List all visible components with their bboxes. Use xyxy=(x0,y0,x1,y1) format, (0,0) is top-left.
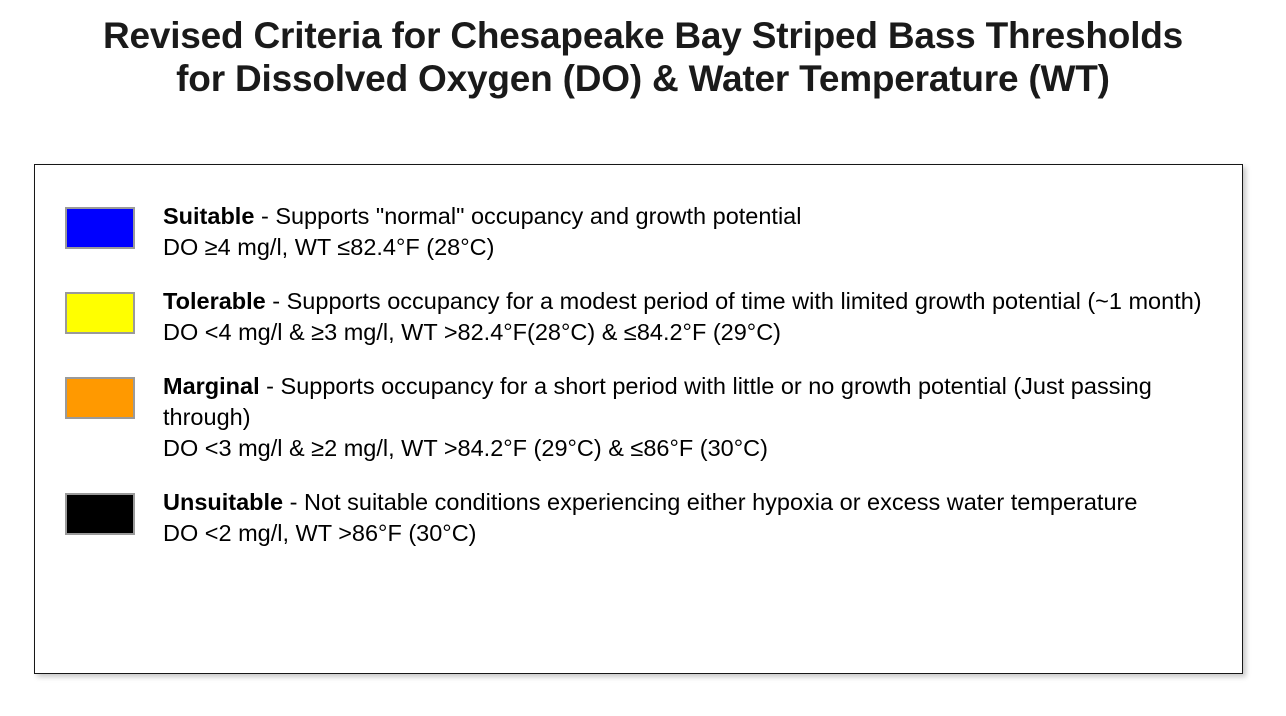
color-swatch-yellow xyxy=(65,292,135,334)
legend-criteria: DO <2 mg/l, WT >86°F (30°C) xyxy=(163,518,1223,549)
legend-criteria: DO <3 mg/l & ≥2 mg/l, WT >84.2°F (29°C) … xyxy=(163,433,1223,464)
legend-description: Supports occupancy for a modest period o… xyxy=(287,288,1202,314)
legend-panel: Suitable - Supports "normal" occupancy a… xyxy=(34,164,1243,674)
legend-item-marginal: Marginal - Supports occupancy for a shor… xyxy=(65,371,1226,464)
page-title-line-2: for Dissolved Oxygen (DO) & Water Temper… xyxy=(0,57,1286,100)
legend-item-text: Tolerable - Supports occupancy for a mod… xyxy=(163,286,1223,348)
page-title-line-1: Revised Criteria for Chesapeake Bay Stri… xyxy=(0,14,1286,57)
legend-item-tolerable: Tolerable - Supports occupancy for a mod… xyxy=(65,286,1226,348)
slide-root: { "title": { "line1": "Revised Criteria … xyxy=(0,0,1286,716)
legend-description: Not suitable conditions experiencing eit… xyxy=(304,489,1137,515)
legend-list: Suitable - Supports "normal" occupancy a… xyxy=(65,201,1226,549)
legend-separator: - xyxy=(283,489,304,515)
legend-item-text: Suitable - Supports "normal" occupancy a… xyxy=(163,201,1223,263)
legend-term: Unsuitable xyxy=(163,489,283,515)
legend-term: Suitable xyxy=(163,203,254,229)
legend-separator: - xyxy=(254,203,275,229)
legend-item-text: Marginal - Supports occupancy for a shor… xyxy=(163,371,1223,464)
page-title: Revised Criteria for Chesapeake Bay Stri… xyxy=(0,14,1286,100)
legend-item-text: Unsuitable - Not suitable conditions exp… xyxy=(163,487,1223,549)
legend-item-unsuitable: Unsuitable - Not suitable conditions exp… xyxy=(65,487,1226,549)
legend-term: Marginal xyxy=(163,373,260,399)
legend-criteria: DO <4 mg/l & ≥3 mg/l, WT >82.4°F(28°C) &… xyxy=(163,317,1223,348)
legend-separator: - xyxy=(266,288,287,314)
legend-separator: - xyxy=(260,373,281,399)
color-swatch-black xyxy=(65,493,135,535)
legend-description: Supports occupancy for a short period wi… xyxy=(163,373,1152,430)
legend-description: Supports "normal" occupancy and growth p… xyxy=(275,203,801,229)
legend-term: Tolerable xyxy=(163,288,266,314)
legend-item-suitable: Suitable - Supports "normal" occupancy a… xyxy=(65,201,1226,263)
color-swatch-orange xyxy=(65,377,135,419)
legend-criteria: DO ≥4 mg/l, WT ≤82.4°F (28°C) xyxy=(163,232,1223,263)
color-swatch-blue xyxy=(65,207,135,249)
